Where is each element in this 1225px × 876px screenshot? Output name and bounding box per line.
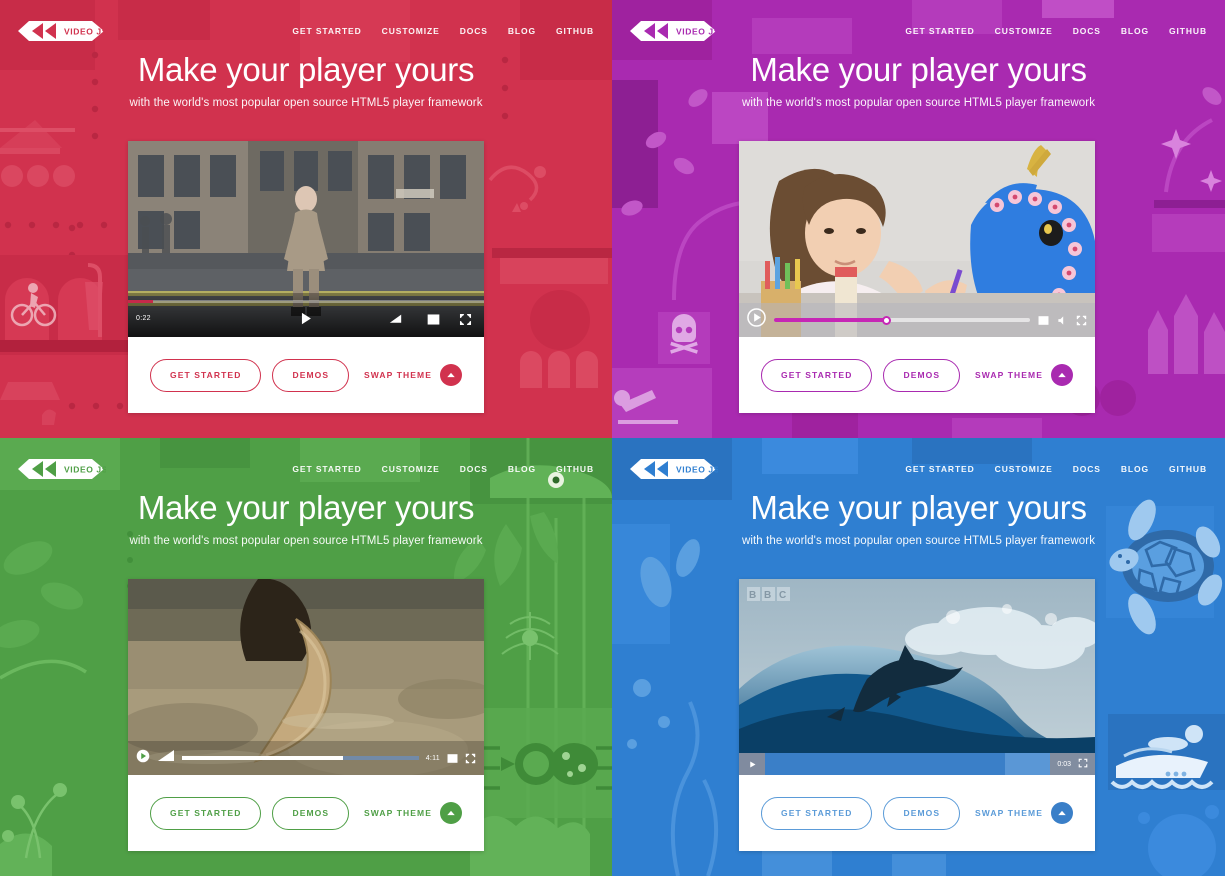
play-button-blue[interactable] xyxy=(739,753,765,775)
swap-theme-label: SWAP THEME xyxy=(364,808,432,818)
video-player-red[interactable]: 0:22 xyxy=(128,141,484,337)
player-card-purple: GET STARTED DEMOS SWAP THEME xyxy=(739,141,1095,413)
page-subtitle: with the world's most popular open sourc… xyxy=(0,535,612,547)
header-red: VIDEO JS GET STARTED CUSTOMIZE DOCS BLOG… xyxy=(0,0,612,62)
nav-item-blog[interactable]: BLOG xyxy=(1121,26,1149,36)
nav-item-customize[interactable]: CUSTOMIZE xyxy=(382,464,440,474)
logo-videojs[interactable]: VIDEO JS xyxy=(18,458,106,480)
player-card-red: 0:22 xyxy=(128,141,484,413)
nav-item-docs[interactable]: DOCS xyxy=(1073,26,1101,36)
card-footer-purple: GET STARTED DEMOS SWAP THEME xyxy=(739,337,1095,413)
chevron-up-icon[interactable] xyxy=(440,364,462,386)
fullscreen-icon-blue[interactable] xyxy=(1078,755,1088,773)
swap-theme-control[interactable]: SWAP THEME xyxy=(364,802,462,824)
progress-bar-blue[interactable] xyxy=(765,753,1050,775)
svg-text:B: B xyxy=(764,590,771,601)
videojs-logo-icon: VIDEO JS xyxy=(630,458,718,480)
svg-text:C: C xyxy=(779,590,786,601)
player-card-blue: B B C 0:03 xyxy=(739,579,1095,851)
volume-icon-purple[interactable] xyxy=(1057,315,1068,326)
logo-videojs[interactable]: VIDEO JS xyxy=(630,458,718,480)
video-still-ocean: B B C xyxy=(739,579,1095,775)
page-subtitle: with the world's most popular open sourc… xyxy=(612,97,1225,109)
player-card-green: 4:11 GET STARTED DEMOS xyxy=(128,579,484,851)
swap-theme-control[interactable]: SWAP THEME xyxy=(975,802,1073,824)
demos-button[interactable]: DEMOS xyxy=(883,797,960,830)
main-nav-purple: GET STARTED CUSTOMIZE DOCS BLOG GITHUB xyxy=(905,26,1207,36)
video-controls-purple[interactable] xyxy=(739,303,1095,337)
nav-item-github[interactable]: GITHUB xyxy=(1169,26,1207,36)
nav-item-github[interactable]: GITHUB xyxy=(556,464,594,474)
logo-videojs[interactable]: VIDEO JS xyxy=(630,20,718,42)
play-button-red[interactable] xyxy=(300,312,313,325)
swap-theme-label: SWAP THEME xyxy=(975,370,1043,380)
video-player-purple[interactable] xyxy=(739,141,1095,337)
logo-videojs[interactable]: VIDEO JS xyxy=(18,20,106,42)
theme-panel-blue: VIDEO JS GET STARTED CUSTOMIZE DOCS BLOG… xyxy=(612,438,1225,876)
theme-panel-purple: VIDEO JS GET STARTED CUSTOMIZE DOCS BLOG… xyxy=(612,0,1225,438)
video-controls-blue[interactable]: 0:03 xyxy=(739,753,1095,775)
fullscreen-icon-purple[interactable] xyxy=(1076,315,1087,326)
swap-theme-control[interactable]: SWAP THEME xyxy=(975,364,1073,386)
theme-panel-green: VIDEO JS GET STARTED CUSTOMIZE DOCS BLOG… xyxy=(0,438,612,876)
get-started-button[interactable]: GET STARTED xyxy=(150,359,261,392)
theme-panel-red: VIDEO JS GET STARTED CUSTOMIZE DOCS BLOG… xyxy=(0,0,612,438)
get-started-button[interactable]: GET STARTED xyxy=(761,359,872,392)
svg-text:VIDEO JS: VIDEO JS xyxy=(676,465,718,475)
play-button-purple[interactable] xyxy=(747,308,766,332)
progress-bar-green[interactable] xyxy=(182,756,419,760)
demos-button[interactable]: DEMOS xyxy=(883,359,960,392)
nav-item-github[interactable]: GITHUB xyxy=(1169,464,1207,474)
nav-item-get-started[interactable]: GET STARTED xyxy=(292,464,361,474)
videojs-logo-icon: VIDEO JS xyxy=(18,20,106,42)
video-player-green[interactable]: 4:11 xyxy=(128,579,484,775)
video-player-blue[interactable]: B B C 0:03 xyxy=(739,579,1095,775)
chevron-up-icon[interactable] xyxy=(1051,802,1073,824)
page-subtitle: with the world's most popular open sourc… xyxy=(612,535,1225,547)
nav-item-github[interactable]: GITHUB xyxy=(556,26,594,36)
svg-text:B: B xyxy=(749,590,756,601)
nav-item-blog[interactable]: BLOG xyxy=(508,26,536,36)
progress-bar-purple[interactable] xyxy=(774,318,1030,322)
nav-item-docs[interactable]: DOCS xyxy=(1073,464,1101,474)
nav-item-blog[interactable]: BLOG xyxy=(508,464,536,474)
svg-text:VIDEO JS: VIDEO JS xyxy=(64,27,106,37)
controls-right-blue: 0:03 xyxy=(1050,753,1095,775)
card-footer-green: GET STARTED DEMOS SWAP THEME xyxy=(128,775,484,851)
picture-in-picture-icon-purple[interactable] xyxy=(1038,315,1049,326)
nav-item-customize[interactable]: CUSTOMIZE xyxy=(995,26,1053,36)
swap-theme-label: SWAP THEME xyxy=(364,370,432,380)
time-display-green: 4:11 xyxy=(426,755,440,762)
progress-bar-red[interactable] xyxy=(128,300,484,303)
nav-item-blog[interactable]: BLOG xyxy=(1121,464,1149,474)
play-button-green[interactable] xyxy=(136,749,150,768)
svg-text:VIDEO JS: VIDEO JS xyxy=(64,465,106,475)
get-started-button[interactable]: GET STARTED xyxy=(761,797,872,830)
header-purple: VIDEO JS GET STARTED CUSTOMIZE DOCS BLOG… xyxy=(612,0,1225,62)
nav-item-docs[interactable]: DOCS xyxy=(460,26,488,36)
nav-item-get-started[interactable]: GET STARTED xyxy=(292,26,361,36)
header-blue: VIDEO JS GET STARTED CUSTOMIZE DOCS BLOG… xyxy=(612,438,1225,500)
picture-in-picture-icon-red[interactable] xyxy=(427,313,440,326)
chevron-up-icon[interactable] xyxy=(440,802,462,824)
swap-theme-control[interactable]: SWAP THEME xyxy=(364,364,462,386)
volume-icon-red[interactable] xyxy=(389,313,402,326)
picture-in-picture-icon-green[interactable] xyxy=(447,753,458,764)
nav-item-docs[interactable]: DOCS xyxy=(460,464,488,474)
nav-item-get-started[interactable]: GET STARTED xyxy=(905,464,974,474)
video-controls-green[interactable]: 4:11 xyxy=(128,741,484,775)
card-footer-red: GET STARTED DEMOS SWAP THEME xyxy=(128,337,484,413)
time-display-blue: 0:03 xyxy=(1057,761,1071,768)
nav-item-customize[interactable]: CUSTOMIZE xyxy=(995,464,1053,474)
fullscreen-icon-green[interactable] xyxy=(465,753,476,764)
main-nav-blue: GET STARTED CUSTOMIZE DOCS BLOG GITHUB xyxy=(905,464,1207,474)
demos-button[interactable]: DEMOS xyxy=(272,797,349,830)
volume-icon-green[interactable] xyxy=(157,749,175,767)
page-subtitle: with the world's most popular open sourc… xyxy=(0,97,612,109)
fullscreen-icon-red[interactable] xyxy=(459,313,472,326)
nav-item-get-started[interactable]: GET STARTED xyxy=(905,26,974,36)
videojs-logo-icon: VIDEO JS xyxy=(18,458,106,480)
chevron-up-icon[interactable] xyxy=(1051,364,1073,386)
main-nav-green: GET STARTED CUSTOMIZE DOCS BLOG GITHUB xyxy=(292,464,594,474)
videojs-logo-icon: VIDEO JS xyxy=(630,20,718,42)
get-started-button[interactable]: GET STARTED xyxy=(150,797,261,830)
time-display-red: 0:22 xyxy=(136,315,151,322)
nav-item-customize[interactable]: CUSTOMIZE xyxy=(382,26,440,36)
main-nav-red: GET STARTED CUSTOMIZE DOCS BLOG GITHUB xyxy=(292,26,594,36)
demos-button[interactable]: DEMOS xyxy=(272,359,349,392)
svg-text:VIDEO JS: VIDEO JS xyxy=(676,27,718,37)
card-footer-blue: GET STARTED DEMOS SWAP THEME xyxy=(739,775,1095,851)
video-controls-red[interactable]: 0:22 xyxy=(128,293,484,337)
header-green: VIDEO JS GET STARTED CUSTOMIZE DOCS BLOG… xyxy=(0,438,612,500)
theme-showcase-grid: VIDEO JS GET STARTED CUSTOMIZE DOCS BLOG… xyxy=(0,0,1225,876)
swap-theme-label: SWAP THEME xyxy=(975,808,1043,818)
